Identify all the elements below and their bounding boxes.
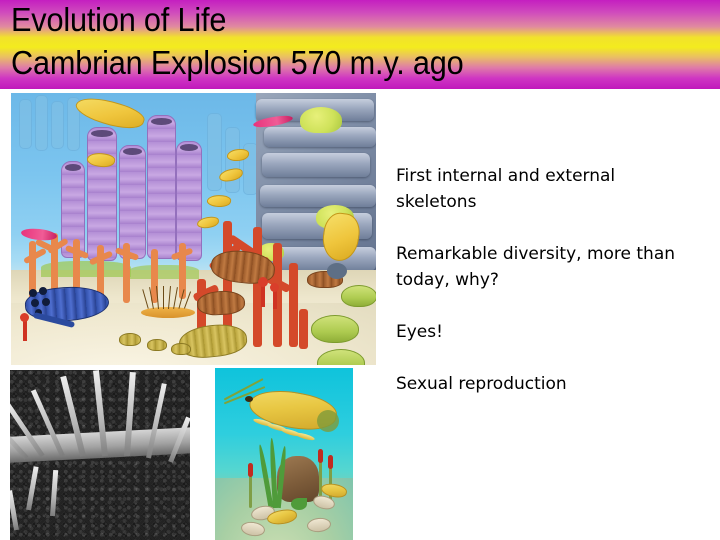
opabinia-eye [31, 299, 39, 307]
algae-tuft [300, 107, 342, 133]
hallucigenia-fossil-photo [10, 370, 190, 540]
bullet-item-3: Eyes! [396, 319, 696, 345]
rock-ledge [260, 185, 376, 207]
small-trilobite [119, 333, 141, 346]
green-shell-creature [311, 315, 359, 343]
anomalocaris-eye [245, 396, 253, 402]
tube-sponge [87, 127, 117, 261]
slide-canvas: Evolution of Life Cambrian Explosion 570… [0, 0, 720, 540]
small-trilobite [171, 343, 191, 355]
rock-ledge [262, 153, 370, 177]
floor-weed [129, 265, 199, 279]
slide-title-line-2: Cambrian Explosion 570 m.y. ago [11, 45, 464, 81]
green-shell-creature [341, 285, 376, 307]
tube-worm [249, 464, 252, 508]
stalked-animal-head [270, 283, 279, 292]
title-banner: Evolution of Life Cambrian Explosion 570… [0, 0, 720, 89]
opabinia-eye [39, 287, 47, 295]
bullet-item-2: Remarkable diversity, more than today, w… [396, 241, 696, 293]
tube-sponge [147, 115, 176, 259]
stalked-animal [23, 319, 27, 341]
sea-urchin [327, 263, 347, 279]
anomalocaris-tail [317, 410, 339, 432]
stalked-animal-head [20, 313, 29, 322]
stalked-animal-head [258, 277, 268, 287]
background-sponge [51, 101, 64, 149]
stalked-animal [273, 289, 277, 309]
tube-sponge [119, 145, 146, 259]
bullet-item-4: Sexual reproduction [396, 371, 696, 397]
opabinia-eye [29, 289, 37, 297]
slide-title-line-1: Evolution of Life [11, 2, 226, 38]
red-coral [299, 309, 308, 349]
background-sponge [35, 95, 48, 151]
hallucigenia-spine [163, 286, 164, 309]
bullet-item-1: First internal and external skeletons [396, 163, 696, 215]
background-sponge [19, 99, 32, 149]
opabinia-eye [42, 298, 50, 306]
seaweed-leaf [291, 498, 307, 510]
cambrian-reef-illustration [11, 93, 376, 365]
small-trilobite [147, 339, 167, 351]
bullet-list: First internal and external skeletons Re… [396, 163, 696, 397]
anomalocaris-reconstruction [215, 368, 353, 540]
red-coral [289, 263, 298, 347]
